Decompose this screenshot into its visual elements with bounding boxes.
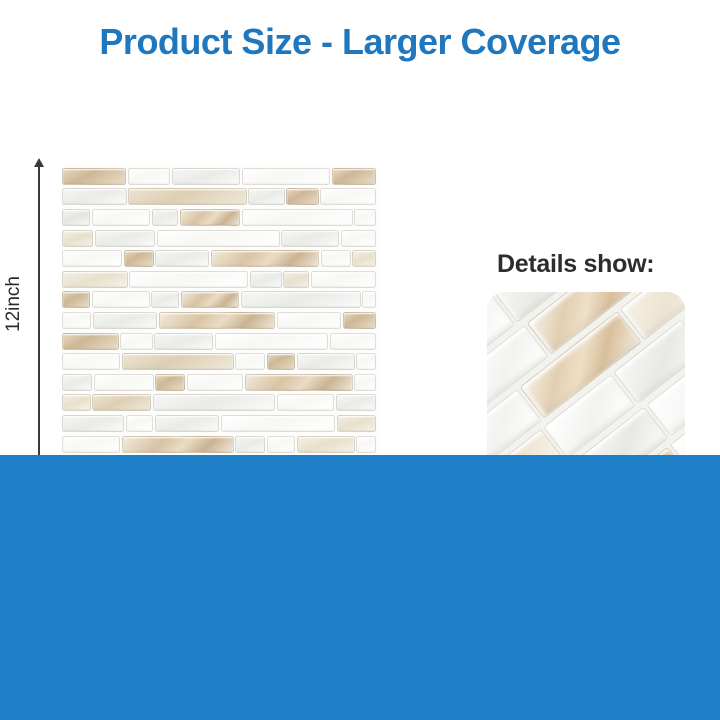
mosaic-tile — [215, 333, 328, 350]
mosaic-tile — [250, 271, 282, 288]
mosaic-tile — [241, 291, 361, 308]
mosaic-tile — [245, 374, 353, 391]
mosaic-tile — [267, 353, 295, 370]
mosaic-tile — [95, 230, 155, 247]
mosaic-tile — [92, 209, 150, 226]
mosaic-tile — [354, 374, 376, 391]
mosaic-tile — [248, 188, 285, 205]
mosaic-row — [62, 228, 378, 249]
mosaic-tile — [187, 374, 243, 391]
mosaic-tile — [62, 394, 91, 411]
mosaic-tile — [281, 230, 339, 247]
size-section: 12inch 12inch Details show: — [0, 78, 720, 455]
mosaic-tile — [320, 188, 376, 205]
mosaic-tile — [277, 394, 334, 411]
mosaic-tile — [221, 415, 335, 432]
mosaic-tile — [129, 271, 248, 288]
mosaic-tile — [62, 188, 127, 205]
mosaic-tile — [267, 436, 295, 453]
mosaic-tile — [211, 250, 319, 267]
mosaic-row — [62, 207, 378, 228]
mosaic-row — [62, 434, 378, 455]
mosaic-tile — [93, 312, 158, 329]
mosaic-tile — [128, 168, 170, 185]
mosaic-tile — [151, 291, 179, 308]
mosaic-row — [62, 413, 378, 434]
mosaic-tile — [62, 250, 122, 267]
mosaic-tile — [94, 374, 154, 391]
mosaic-tile — [336, 394, 377, 411]
mosaic-tile — [235, 353, 265, 370]
mosaic-row — [62, 393, 378, 414]
mosaic-tile — [356, 436, 376, 453]
mosaic-tile — [362, 291, 376, 308]
infographic-page: Product Size - Larger Coverage 12inch 12… — [0, 0, 720, 720]
mosaic-tile — [341, 230, 376, 247]
mosaic-tile — [155, 415, 220, 432]
mosaic-tile — [283, 271, 308, 288]
mosaic-tile — [122, 353, 234, 370]
mosaic-tile — [124, 250, 154, 267]
details-heading: Details show: — [497, 250, 654, 279]
mosaic-tile — [152, 209, 178, 226]
mosaic-tile — [337, 415, 377, 432]
mosaic-tile — [155, 374, 185, 391]
mosaic-tile — [128, 188, 246, 205]
mosaic-tile — [242, 209, 353, 226]
mosaic-tile — [277, 312, 342, 329]
mosaic-tile — [62, 374, 92, 391]
vertical-dimension-arrow — [38, 166, 40, 488]
comparison-panel: 12"X12" > 10"X10" covers 44%more area th… — [0, 455, 720, 720]
mosaic-row — [62, 187, 378, 208]
mosaic-tile — [92, 394, 151, 411]
mosaic-tile — [153, 394, 275, 411]
mosaic-row — [62, 290, 378, 311]
mosaic-row — [62, 166, 378, 187]
mosaic-row — [62, 331, 378, 352]
mosaic-pattern — [62, 166, 378, 488]
mosaic-tile — [120, 333, 152, 350]
mosaic-tile — [356, 353, 376, 370]
mosaic-row — [62, 372, 378, 393]
mosaic-tile — [154, 333, 213, 350]
mosaic-tile — [242, 168, 331, 185]
mosaic-tile — [321, 250, 351, 267]
mosaic-tile — [62, 291, 90, 308]
mosaic-tile — [332, 168, 376, 185]
mosaic-tile — [62, 415, 124, 432]
mosaic-tile — [62, 168, 126, 185]
mosaic-tile — [311, 271, 377, 288]
mosaic-row — [62, 351, 378, 372]
mosaic-tile — [92, 291, 150, 308]
page-title: Product Size - Larger Coverage — [0, 20, 720, 64]
mosaic-row — [62, 248, 378, 269]
mosaic-tile — [181, 291, 239, 308]
mosaic-tile — [235, 436, 265, 453]
mosaic-tile — [126, 415, 153, 432]
mosaic-row — [62, 310, 378, 331]
mosaic-tile — [172, 168, 241, 185]
mosaic-tile — [352, 250, 376, 267]
mosaic-tile — [62, 271, 128, 288]
mosaic-tile — [180, 209, 240, 226]
mosaic-tile — [159, 312, 276, 329]
mosaic-tile — [343, 312, 376, 329]
mosaic-tile — [297, 353, 355, 370]
mosaic-tile — [330, 333, 377, 350]
mosaic-tile — [62, 230, 93, 247]
mosaic-tile — [354, 209, 376, 226]
vertical-dimension-label: 12inch — [3, 276, 25, 332]
mosaic-tile — [62, 312, 91, 329]
mosaic-tile — [62, 209, 90, 226]
mosaic-tile — [297, 436, 355, 453]
mosaic-tile — [157, 230, 280, 247]
mosaic-tile — [155, 250, 209, 267]
mosaic-tile — [122, 436, 234, 453]
mosaic-tile — [62, 333, 119, 350]
mosaic-tile — [62, 353, 120, 370]
mosaic-tile-sheet — [62, 166, 378, 488]
mosaic-tile — [62, 436, 120, 453]
mosaic-tile — [286, 188, 318, 205]
mosaic-row — [62, 269, 378, 290]
